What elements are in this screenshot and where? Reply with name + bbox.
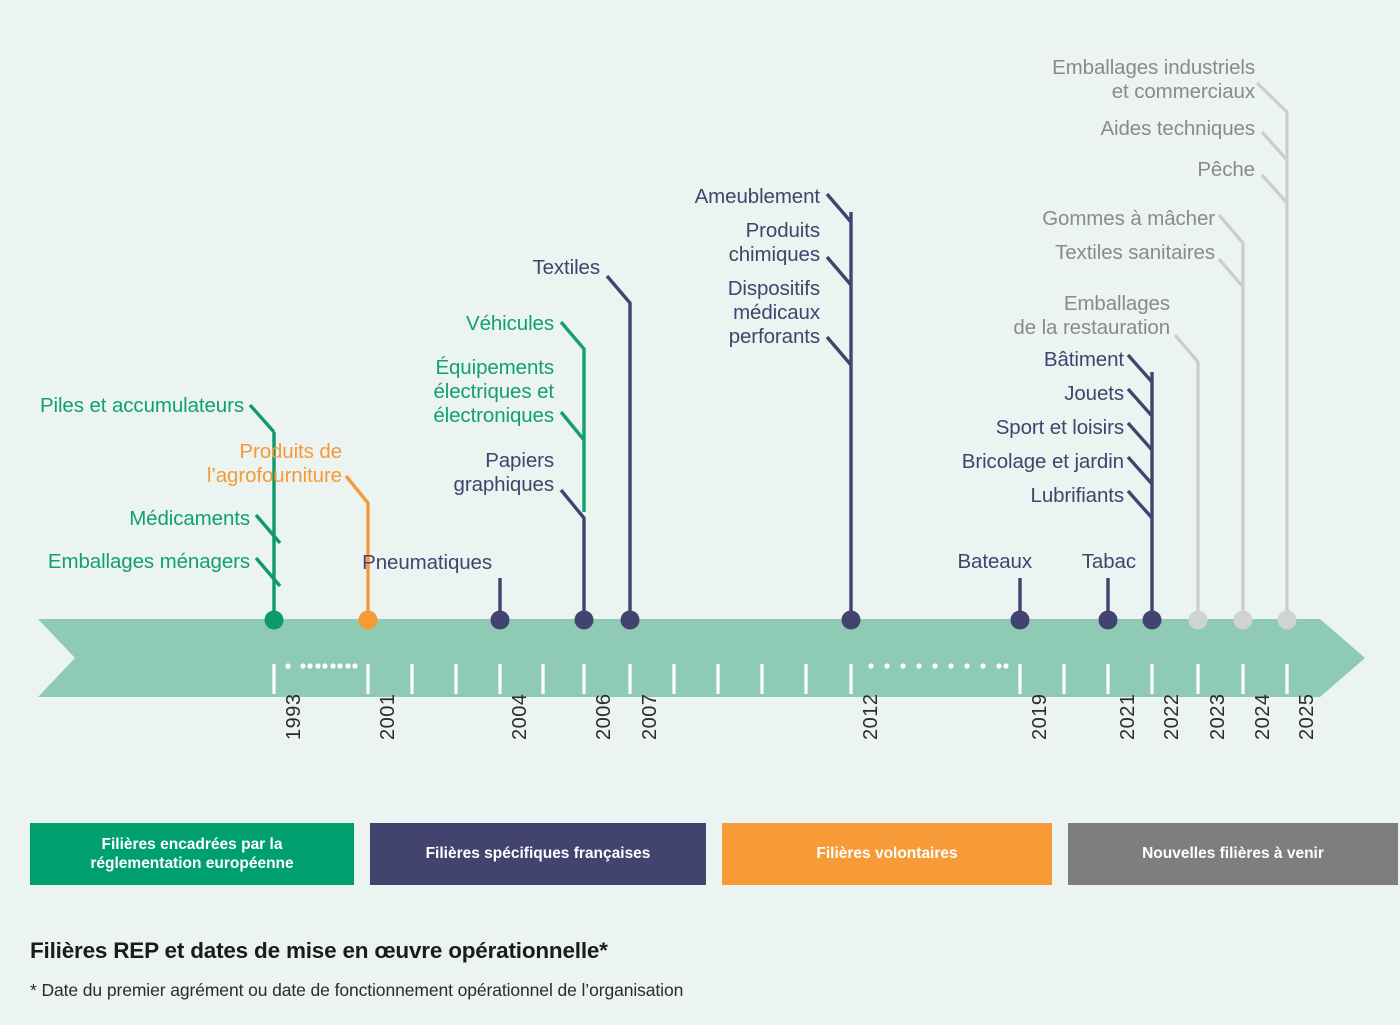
label-textiles-sanitaires: Textiles sanitaires <box>975 241 1215 265</box>
year-label-2023: 2023 <box>1207 694 1230 741</box>
connector-bricolage <box>1128 457 1152 484</box>
label-emballages-industriels-et-commerciaux: Emballages industrielset commerciaux <box>1000 56 1255 104</box>
label-piles-et-accumulateurs: Piles et accumulateurs <box>10 394 244 418</box>
infographic-root: Piles et accumulateurs Médicaments Embal… <box>0 0 1400 1025</box>
label-aides-techniques: Aides techniques <box>1015 117 1255 141</box>
milestone-dot-2021[interactable] <box>1099 611 1118 630</box>
legend-item-nouvelles-a-venir[interactable]: Nouvelles filières à venir <box>1068 823 1398 885</box>
milestone-dot-2007[interactable] <box>621 611 640 630</box>
year-label-2006: 2006 <box>593 694 616 741</box>
label-emballages-menagers: Emballages ménagers <box>0 550 250 574</box>
label-lubrifiants: Lubrifiants <box>900 484 1124 508</box>
stem-2006-navy <box>561 490 584 620</box>
milestone-dot-1993[interactable] <box>265 611 284 630</box>
connector-emballages-industriels <box>1257 83 1287 618</box>
connector-piles <box>250 405 274 432</box>
year-label-2024: 2024 <box>1252 694 1275 741</box>
figure-subtitle: * Date du premier agrément ou date de fo… <box>30 980 683 1001</box>
label-medicaments: Médicaments <box>10 507 250 531</box>
label-gommes-a-macher: Gommes à mâcher <box>975 207 1215 231</box>
connector-sport <box>1128 423 1152 450</box>
connector-batiment <box>1128 355 1152 382</box>
milestone-dot-2006[interactable] <box>575 611 594 630</box>
connector-produits-chimiques <box>827 257 851 285</box>
year-label-2001: 2001 <box>377 694 400 741</box>
connector-jouets <box>1128 389 1152 416</box>
year-label-2004: 2004 <box>509 694 532 741</box>
label-produits-chimiques: Produitschimiques <box>600 219 820 267</box>
milestone-dot-2022[interactable] <box>1143 611 1162 630</box>
label-produits-agrofourniture: Produits del’agrofourniture <box>100 440 342 488</box>
milestone-dot-2004[interactable] <box>491 611 510 630</box>
label-ameublement: Ameublement <box>600 185 820 209</box>
connector-medicaments <box>256 515 280 543</box>
connector-dispositifs-medicaux <box>827 337 851 365</box>
label-bricolage-et-jardin: Bricolage et jardin <box>900 450 1124 474</box>
connector-lubrifiants <box>1128 491 1152 518</box>
year-label-2019: 2019 <box>1029 694 1052 741</box>
figure-title: Filières REP et dates de mise en œuvre o… <box>30 938 608 964</box>
label-peche: Pêche <box>1015 158 1255 182</box>
label-papiers-graphiques: Papiersgraphiques <box>350 449 554 497</box>
year-label-2007: 2007 <box>639 694 662 741</box>
legend-item-volontaires[interactable]: Filières volontaires <box>722 823 1052 885</box>
label-sport-et-loisirs: Sport et loisirs <box>900 416 1124 440</box>
year-label-1993: 1993 <box>283 694 306 741</box>
year-label-2012: 2012 <box>860 694 883 741</box>
label-pneumatiques: Pneumatiques <box>280 551 492 575</box>
connector-ameublement <box>827 194 851 222</box>
milestone-dot-2001[interactable] <box>359 611 378 630</box>
year-label-2021: 2021 <box>1117 694 1140 741</box>
label-dispositifs-medicaux-perforants: Dispositifsmédicauxperforants <box>600 277 820 348</box>
legend-item-specifiques-francaises[interactable]: Filières spécifiques françaises <box>370 823 706 885</box>
connector-aides-techniques <box>1262 132 1287 160</box>
timeline-bar <box>38 619 1365 697</box>
label-batiment: Bâtiment <box>900 348 1124 372</box>
label-tabac: Tabac <box>1000 550 1136 574</box>
label-jouets: Jouets <box>900 382 1124 406</box>
connector-agrofourniture <box>346 476 368 620</box>
milestone-dot-2019[interactable] <box>1011 611 1030 630</box>
legend: Filières encadrées par la réglementation… <box>30 823 1398 885</box>
label-emballages-de-la-restauration: Emballagesde la restauration <box>930 292 1170 340</box>
year-label-2022: 2022 <box>1161 694 1184 741</box>
label-equipements-electriques-electroniques: Équipementsélectriques etélectroniques <box>330 356 554 427</box>
label-vehicules: Véhicules <box>360 312 554 336</box>
connector-peche <box>1262 175 1287 203</box>
connector-eee <box>561 412 584 440</box>
milestone-dot-2025[interactable] <box>1278 611 1297 630</box>
milestone-dot-2024[interactable] <box>1234 611 1253 630</box>
connector-emballages-menagers <box>256 558 280 586</box>
connector-textiles-sanitaires <box>1219 259 1243 287</box>
label-textiles: Textiles <box>420 256 600 280</box>
connector-restauration <box>1175 335 1198 618</box>
legend-item-reglementation-europeenne[interactable]: Filières encadrées par la réglementation… <box>30 823 354 885</box>
milestone-dot-2023[interactable] <box>1189 611 1208 630</box>
milestone-dot-2012[interactable] <box>842 611 861 630</box>
year-label-2025: 2025 <box>1296 694 1319 741</box>
